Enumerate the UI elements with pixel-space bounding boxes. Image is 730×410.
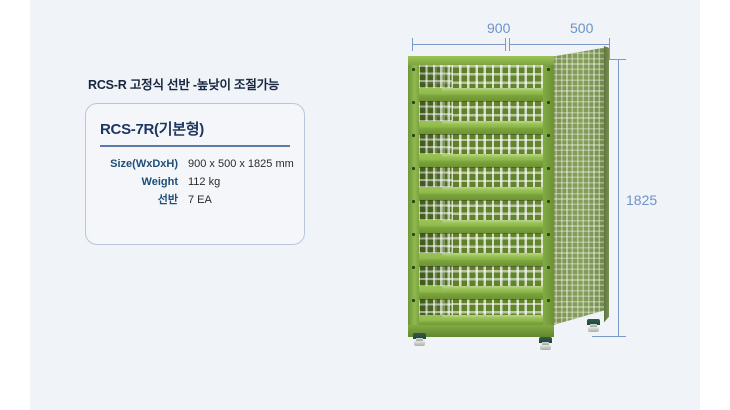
side-panel-edge (604, 46, 609, 328)
product-spec-figure: RCS-R 고정식 선반 -높낮이 조절가능 RCS-7R(기본형) Size(… (0, 0, 730, 410)
table-row: Weight 112 kg (98, 174, 298, 192)
bolt-stud (547, 200, 550, 203)
adjustable-foot-front-left (412, 333, 427, 346)
bolt-stud (412, 233, 415, 236)
spec-card: RCS-7R(기본형) Size(WxDxH) 900 x 500 x 1825… (85, 103, 305, 245)
spec-value-weight: 112 kg (188, 174, 298, 192)
dimension-extension-depth (609, 44, 610, 60)
shelf-level (414, 88, 548, 101)
dimension-line-width (412, 44, 506, 45)
spec-card-title: RCS-7R(기본형) (100, 118, 204, 139)
bolt-stud (412, 299, 415, 302)
frame-post-right (543, 56, 554, 337)
frame-post-left (408, 56, 419, 337)
spec-label-weight: Weight (98, 174, 188, 192)
dimension-label-depth: 500 (570, 20, 593, 36)
bolt-stud (547, 167, 550, 170)
bolt-stud (412, 68, 415, 71)
table-row: Size(WxDxH) 900 x 500 x 1825 mm (98, 156, 298, 174)
bolt-stud (547, 299, 550, 302)
spec-table: Size(WxDxH) 900 x 500 x 1825 mm Weight 1… (98, 156, 298, 210)
spec-value-size: 900 x 500 x 1825 mm (188, 156, 298, 174)
table-row: 선반 7 EA (98, 192, 298, 210)
shelf-level (414, 121, 548, 134)
spec-value-shelves: 7 EA (188, 192, 298, 210)
bolt-stud (547, 68, 550, 71)
adjustable-foot-back-right (586, 319, 601, 332)
bolt-stud (547, 233, 550, 236)
frame-rail-bottom (408, 325, 554, 337)
product-illustration (408, 47, 608, 347)
dimension-label-width: 900 (487, 20, 510, 36)
spec-label-size: Size(WxDxH) (98, 156, 188, 174)
bolt-stud (547, 101, 550, 104)
side-perforated-panel (550, 47, 608, 326)
shelf-level (414, 220, 548, 233)
shelf-level (414, 187, 548, 200)
dimension-line-depth (509, 44, 610, 45)
bolt-stud (412, 200, 415, 203)
shelf-level (414, 154, 548, 167)
frame-rail-top (408, 56, 554, 65)
cabinet-body (408, 56, 554, 337)
shelf-level (414, 286, 548, 299)
page-title: RCS-R 고정식 선반 -높낮이 조절가능 (88, 74, 279, 93)
bolt-stud (412, 167, 415, 170)
dimension-line-height (618, 59, 619, 336)
adjustable-foot-front-right (538, 337, 553, 350)
bolt-stud (547, 266, 550, 269)
bolt-stud (412, 266, 415, 269)
bolt-stud (547, 134, 550, 137)
shelf-level (414, 253, 548, 266)
spec-card-divider (100, 145, 290, 147)
bolt-stud (412, 101, 415, 104)
bolt-stud (412, 134, 415, 137)
spec-label-shelves: 선반 (98, 192, 188, 210)
dimension-label-height: 1825 (626, 192, 657, 208)
